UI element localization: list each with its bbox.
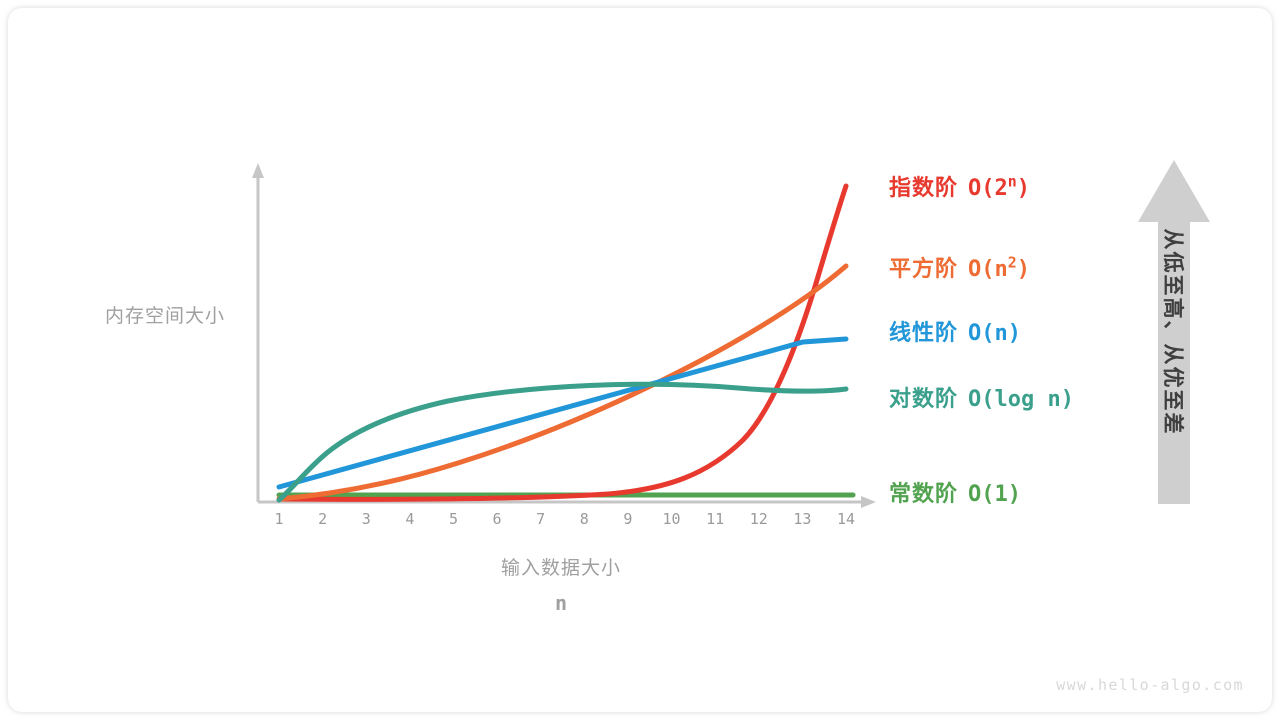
legend-name-4: 常数阶 (889, 481, 958, 506)
x-tick-13: 13 (787, 510, 817, 528)
legend-notation-sup-1: 2 (1008, 254, 1017, 272)
x-tick-10: 10 (657, 510, 687, 528)
legend-notation-base-3: O(log n) (968, 387, 1074, 412)
x-tick-3: 3 (351, 510, 381, 528)
x-tick-11: 11 (700, 510, 730, 528)
x-axis-arrowhead (861, 496, 876, 508)
legend-notation-sup-0: n (1008, 173, 1017, 191)
legend-name-3: 对数阶 (889, 386, 958, 411)
legend-notation-2: O(n) (968, 321, 1021, 346)
x-tick-14: 14 (831, 510, 861, 528)
x-axis-symbol: n (441, 591, 681, 615)
y-axis-arrowhead (252, 163, 264, 178)
legend-notation-0: O(2n) (968, 176, 1030, 201)
figure-card: 内存空间大小 输入数据大小 n 1234567891011121314 指数阶O… (8, 8, 1272, 712)
legend-notation-base-1: O(n (968, 257, 1008, 282)
legend-item-4: 常数阶O(1) (889, 476, 1021, 508)
x-tick-7: 7 (526, 510, 556, 528)
legend-notation-base-0: O(2 (968, 176, 1008, 201)
x-tick-6: 6 (482, 510, 512, 528)
y-axis-label: 内存空间大小 (80, 301, 250, 328)
legend-notation-3: O(log n) (968, 387, 1074, 412)
x-tick-12: 12 (744, 510, 774, 528)
legend-notation-close-1: ) (1017, 257, 1030, 282)
x-axis-label: 输入数据大小 (441, 553, 681, 580)
watermark: www.hello-algo.com (1056, 676, 1244, 694)
x-tick-1: 1 (264, 510, 294, 528)
ranking-arrow-label: 从低至高、从优至差 (1136, 156, 1212, 508)
legend-notation-4: O(1) (968, 482, 1021, 507)
legend-notation-close-0: ) (1017, 176, 1030, 201)
legend-name-0: 指数阶 (889, 175, 958, 200)
legend-notation-base-2: O(n) (968, 321, 1021, 346)
x-tick-5: 5 (438, 510, 468, 528)
legend-notation-1: O(n2) (968, 257, 1030, 282)
legend-item-0: 指数阶O(2n) (889, 170, 1030, 202)
curve-logarithmic (279, 384, 846, 500)
x-tick-4: 4 (395, 510, 425, 528)
legend-name-2: 线性阶 (889, 320, 958, 345)
legend-name-1: 平方阶 (889, 256, 958, 281)
legend-item-3: 对数阶O(log n) (889, 381, 1074, 413)
legend-item-2: 线性阶O(n) (889, 315, 1021, 347)
curve-exponential (279, 186, 846, 499)
legend-notation-base-4: O(1) (968, 482, 1021, 507)
x-tick-8: 8 (569, 510, 599, 528)
legend-item-1: 平方阶O(n2) (889, 251, 1030, 283)
x-tick-9: 9 (613, 510, 643, 528)
x-tick-2: 2 (308, 510, 338, 528)
